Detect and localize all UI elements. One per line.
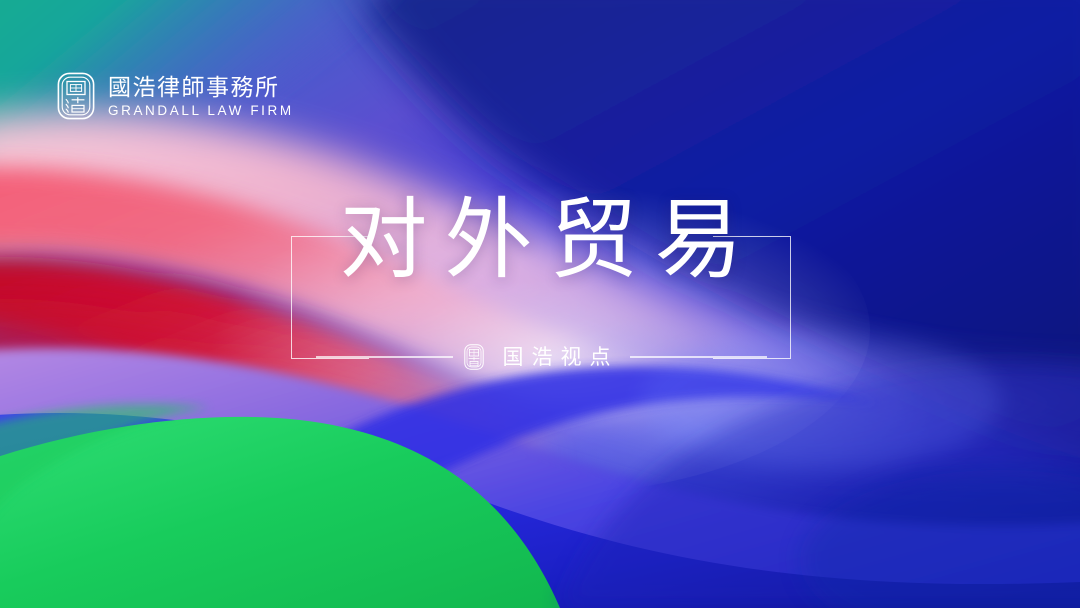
brand-logo-lockup: 國浩律師事務所 GRANDALL LAW FIRM — [57, 72, 294, 120]
title-plate: 对外贸易 国浩视点 — [291, 236, 791, 359]
page-title: 对外贸易 — [291, 188, 791, 292]
grandall-seal-icon — [57, 72, 95, 120]
horizontal-rule-left-icon — [316, 356, 453, 357]
brand-name-cn: 國浩律師事務所 — [108, 75, 294, 101]
banner-canvas: 國浩律師事務所 GRANDALL LAW FIRM 对外贸易 国浩视点 — [0, 0, 1080, 608]
brand-text-column: 國浩律師事務所 GRANDALL LAW FIRM — [108, 75, 294, 118]
grandall-seal-small-icon — [464, 344, 484, 370]
subtitle-text: 国浩视点 — [495, 344, 619, 370]
brand-name-en: GRANDALL LAW FIRM — [108, 103, 294, 118]
subtitle-row: 国浩视点 — [291, 344, 791, 370]
horizontal-rule-right-icon — [630, 356, 767, 357]
